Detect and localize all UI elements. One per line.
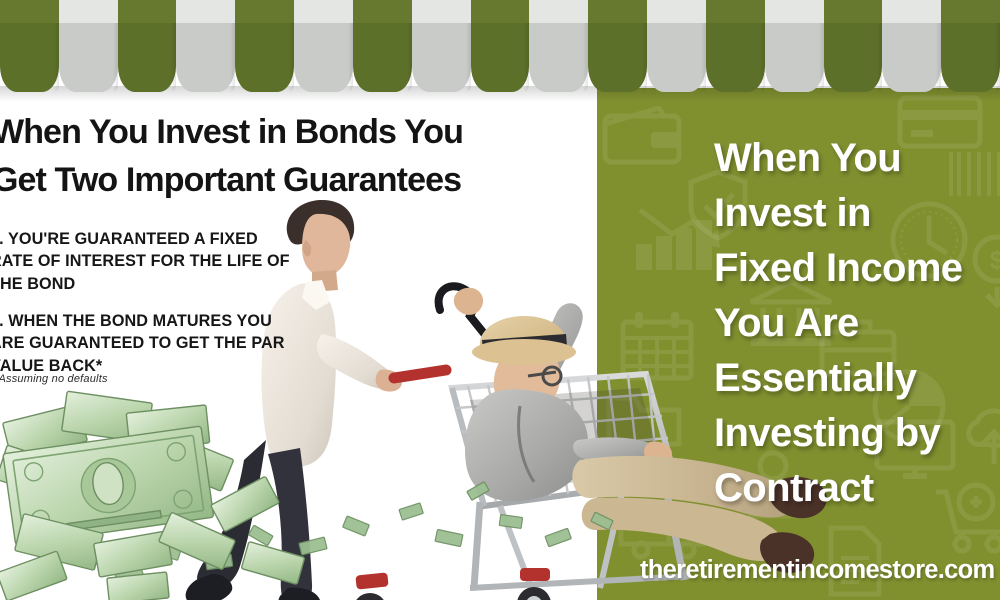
guarantee-2-line-2: ARE GUARANTEED TO GET THE PAR — [0, 332, 320, 354]
folder-icon — [605, 388, 683, 450]
awning-stripe — [59, 0, 118, 92]
guarantee-item-2: 2. WHEN THE BOND MATURES YOU ARE GUARANT… — [0, 310, 320, 377]
truck-icon — [617, 500, 709, 560]
guarantee-1-line-3: THE BOND — [0, 273, 320, 295]
page-title: When You Invest in Bonds You Get Two Imp… — [0, 108, 592, 204]
headline-line-1: When You Invest in Bonds You — [0, 108, 592, 156]
cart-wheel — [353, 568, 551, 600]
walking-cane — [439, 286, 560, 428]
awning-stripes — [0, 0, 1000, 92]
awning-stripe — [941, 0, 1000, 92]
awning-stripe — [353, 0, 412, 92]
awning-stripe — [588, 0, 647, 92]
panel-heading-line-7: Contract — [714, 461, 1000, 516]
eyeglasses — [528, 367, 561, 385]
awning-stripe — [471, 0, 530, 92]
awning-stripe-shading — [995, 0, 1000, 92]
website-url[interactable]: theretirementincomestore.com — [640, 556, 995, 585]
awning-stripe — [706, 0, 765, 92]
panel-heading-line-3: Fixed Income — [714, 241, 1000, 296]
awning-stripe — [529, 0, 588, 92]
awning-stripe — [235, 0, 294, 92]
calendar-icon — [619, 310, 695, 382]
straw-hat — [480, 316, 566, 360]
panel-heading: When You Invest in Fixed Income You Are … — [714, 131, 1000, 516]
awning-stripe — [0, 0, 59, 92]
guarantee-1-line-2: RATE OF INTEREST FOR THE LIFE OF — [0, 250, 320, 272]
panel-heading-line-2: Invest in — [714, 186, 1000, 241]
money-pile — [0, 385, 360, 600]
awning-stripe — [647, 0, 706, 92]
guarantee-2-line-1: 2. WHEN THE BOND MATURES YOU — [0, 310, 320, 332]
poster-canvas: $ — [0, 0, 1000, 600]
awning-stripe — [765, 0, 824, 92]
awning-stripe — [176, 0, 235, 92]
awning-stripe — [882, 0, 941, 92]
awning-stripe — [294, 0, 353, 92]
panel-heading-line-1: When You — [714, 131, 1000, 186]
awning-stripe — [412, 0, 471, 92]
wallet-icon — [601, 106, 683, 166]
guarantee-1-line-1: 1. YOU'RE GUARANTEED A FIXED — [0, 228, 320, 250]
panel-heading-line-5: Essentially — [714, 351, 1000, 406]
awning-stripe — [824, 0, 883, 92]
panel-heading-line-6: Investing by — [714, 406, 1000, 461]
panel-heading-line-4: You Are — [714, 296, 1000, 351]
awning-stripe — [118, 0, 177, 92]
headline-line-2: Get Two Important Guarantees — [0, 156, 592, 204]
guarantee-item-1: 1. YOU'RE GUARANTEED A FIXED RATE OF INT… — [0, 228, 320, 295]
footnote-text: *Assuming no defaults — [0, 373, 108, 385]
